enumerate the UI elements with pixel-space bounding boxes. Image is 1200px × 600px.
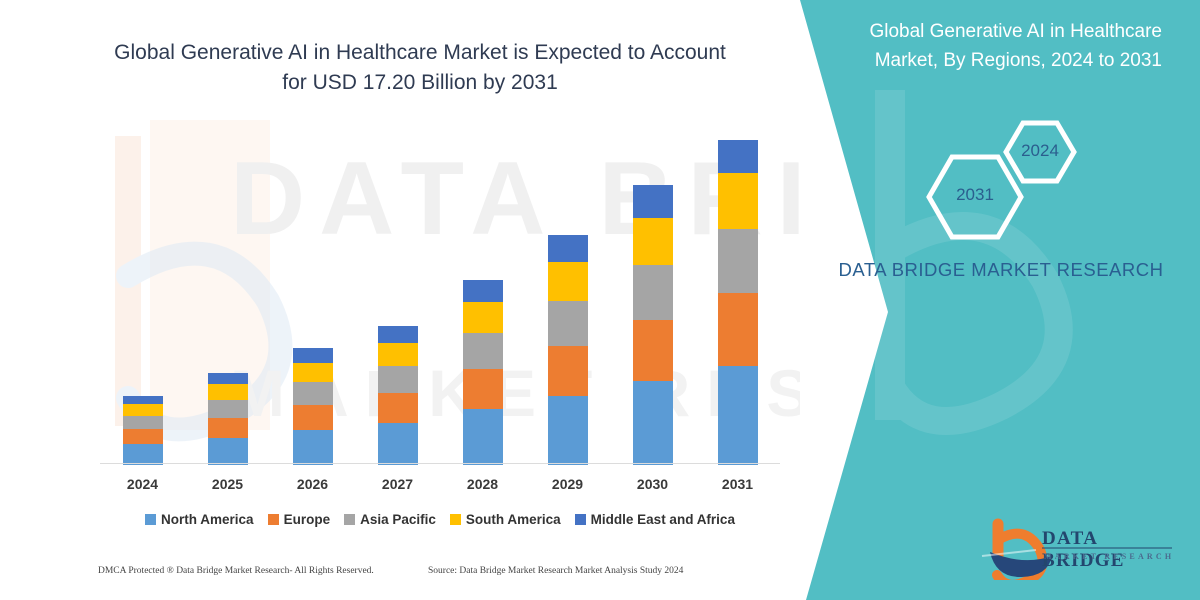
legend-swatch bbox=[268, 514, 279, 525]
chart-bar-segment bbox=[548, 262, 588, 301]
hexagon-label-large: 2031 bbox=[953, 185, 997, 205]
chart-bar-segment bbox=[378, 423, 418, 465]
chart-bar-segment bbox=[463, 302, 503, 333]
chart-bar-segment bbox=[378, 366, 418, 393]
chart-bar-segment bbox=[293, 363, 333, 382]
legend-item[interactable]: South America bbox=[450, 512, 561, 527]
x-axis-tick-label: 2027 bbox=[362, 476, 434, 492]
footer-copyright: DMCA Protected ® Data Bridge Market Rese… bbox=[98, 566, 374, 576]
brand-logo: DATA BRIDGE MARKET RESEARCH bbox=[976, 518, 1176, 580]
chart-bar-segment bbox=[718, 140, 758, 173]
legend-item[interactable]: North America bbox=[145, 512, 254, 527]
chart-bar-segment bbox=[718, 229, 758, 293]
chart-baseline-axis bbox=[100, 463, 780, 464]
chart-bar-segment bbox=[378, 343, 418, 366]
stacked-bar-chart bbox=[100, 140, 780, 465]
chart-bar-segment bbox=[208, 400, 248, 418]
chart-bar-segment bbox=[548, 301, 588, 346]
x-axis-tick-label: 2024 bbox=[107, 476, 179, 492]
chart-bar-segment bbox=[548, 346, 588, 396]
panel-title: Global Generative AI in Healthcare Marke… bbox=[832, 18, 1162, 75]
chart-bar-segment bbox=[633, 185, 673, 217]
legend-label: Europe bbox=[284, 512, 331, 527]
legend-item[interactable]: Europe bbox=[268, 512, 331, 527]
chart-bar-segment bbox=[463, 409, 503, 465]
chart-bar-segment bbox=[633, 265, 673, 320]
chart-bar-segment bbox=[208, 384, 248, 399]
x-axis-tick-label: 2028 bbox=[447, 476, 519, 492]
x-axis-tick-label: 2029 bbox=[532, 476, 604, 492]
chart-bar bbox=[293, 348, 333, 465]
legend-label: Middle East and Africa bbox=[591, 512, 735, 527]
chart-bar bbox=[548, 235, 588, 465]
chart-bar-segment bbox=[548, 396, 588, 465]
chart-bar-segment bbox=[293, 348, 333, 362]
chart-bar-segment bbox=[718, 293, 758, 366]
chart-bar-segment bbox=[463, 369, 503, 410]
chart-bar-segment bbox=[123, 444, 163, 465]
chart-bar-segment bbox=[378, 326, 418, 343]
chart-bar bbox=[463, 280, 503, 465]
legend-label: South America bbox=[466, 512, 561, 527]
legend-label: Asia Pacific bbox=[360, 512, 436, 527]
legend-swatch bbox=[575, 514, 586, 525]
x-axis-labels: 20242025202620272028202920302031 bbox=[100, 472, 780, 502]
legend-label: North America bbox=[161, 512, 254, 527]
chart-bar-segment bbox=[123, 396, 163, 405]
legend-swatch bbox=[450, 514, 461, 525]
chart-bar-segment bbox=[123, 429, 163, 444]
page-title: Global Generative AI in Healthcare Marke… bbox=[100, 38, 740, 99]
logo-secondary-text: MARKET RESEARCH bbox=[1044, 552, 1174, 561]
x-axis-tick-label: 2026 bbox=[277, 476, 349, 492]
x-axis-tick-label: 2031 bbox=[702, 476, 774, 492]
x-axis-tick-label: 2025 bbox=[192, 476, 264, 492]
chart-bar-segment bbox=[718, 173, 758, 229]
chart-bar-segment bbox=[718, 366, 758, 465]
panel-brand-text: DATA BRIDGE MARKET RESEARCH bbox=[836, 255, 1166, 285]
chart-bar bbox=[208, 373, 248, 465]
x-axis-tick-label: 2030 bbox=[617, 476, 689, 492]
chart-bar bbox=[378, 326, 418, 465]
chart-bar bbox=[718, 140, 758, 465]
chart-bar-segment bbox=[123, 416, 163, 429]
infographic-canvas: DATA BRIDGE MARKET RESEARCH Global Gener… bbox=[0, 0, 1200, 600]
chart-bar-segment bbox=[208, 438, 248, 465]
footer-source: Source: Data Bridge Market Research Mark… bbox=[428, 566, 683, 576]
chart-bar-segment bbox=[633, 320, 673, 381]
chart-bar-segment bbox=[293, 382, 333, 405]
chart-bar-segment bbox=[633, 381, 673, 465]
chart-bar-segment bbox=[463, 280, 503, 302]
chart-bar-segment bbox=[208, 418, 248, 438]
chart-bar-segment bbox=[633, 218, 673, 265]
chart-bar-segment bbox=[463, 333, 503, 369]
chart-bar-segment bbox=[123, 404, 163, 416]
legend-swatch bbox=[145, 514, 156, 525]
chart-bar-segment bbox=[293, 405, 333, 431]
legend-item[interactable]: Middle East and Africa bbox=[575, 512, 735, 527]
legend-item[interactable]: Asia Pacific bbox=[344, 512, 436, 527]
hexagon-group: 2024 2031 bbox=[910, 115, 1110, 245]
footer: DMCA Protected ® Data Bridge Market Rese… bbox=[0, 566, 790, 590]
chart-legend: North AmericaEuropeAsia PacificSouth Ame… bbox=[100, 512, 780, 527]
chart-bar-segment bbox=[208, 373, 248, 384]
logo-primary-text: DATA BRIDGE bbox=[1042, 528, 1176, 572]
chart-bar bbox=[123, 396, 163, 465]
chart-bar-segment bbox=[293, 430, 333, 465]
right-panel bbox=[770, 0, 1200, 600]
chart-bar bbox=[633, 185, 673, 465]
legend-swatch bbox=[344, 514, 355, 525]
hexagon-shapes-icon bbox=[910, 115, 1110, 245]
chart-bar-segment bbox=[548, 235, 588, 262]
chart-bar-segment bbox=[378, 393, 418, 423]
hexagon-label-small: 2024 bbox=[1018, 141, 1062, 161]
